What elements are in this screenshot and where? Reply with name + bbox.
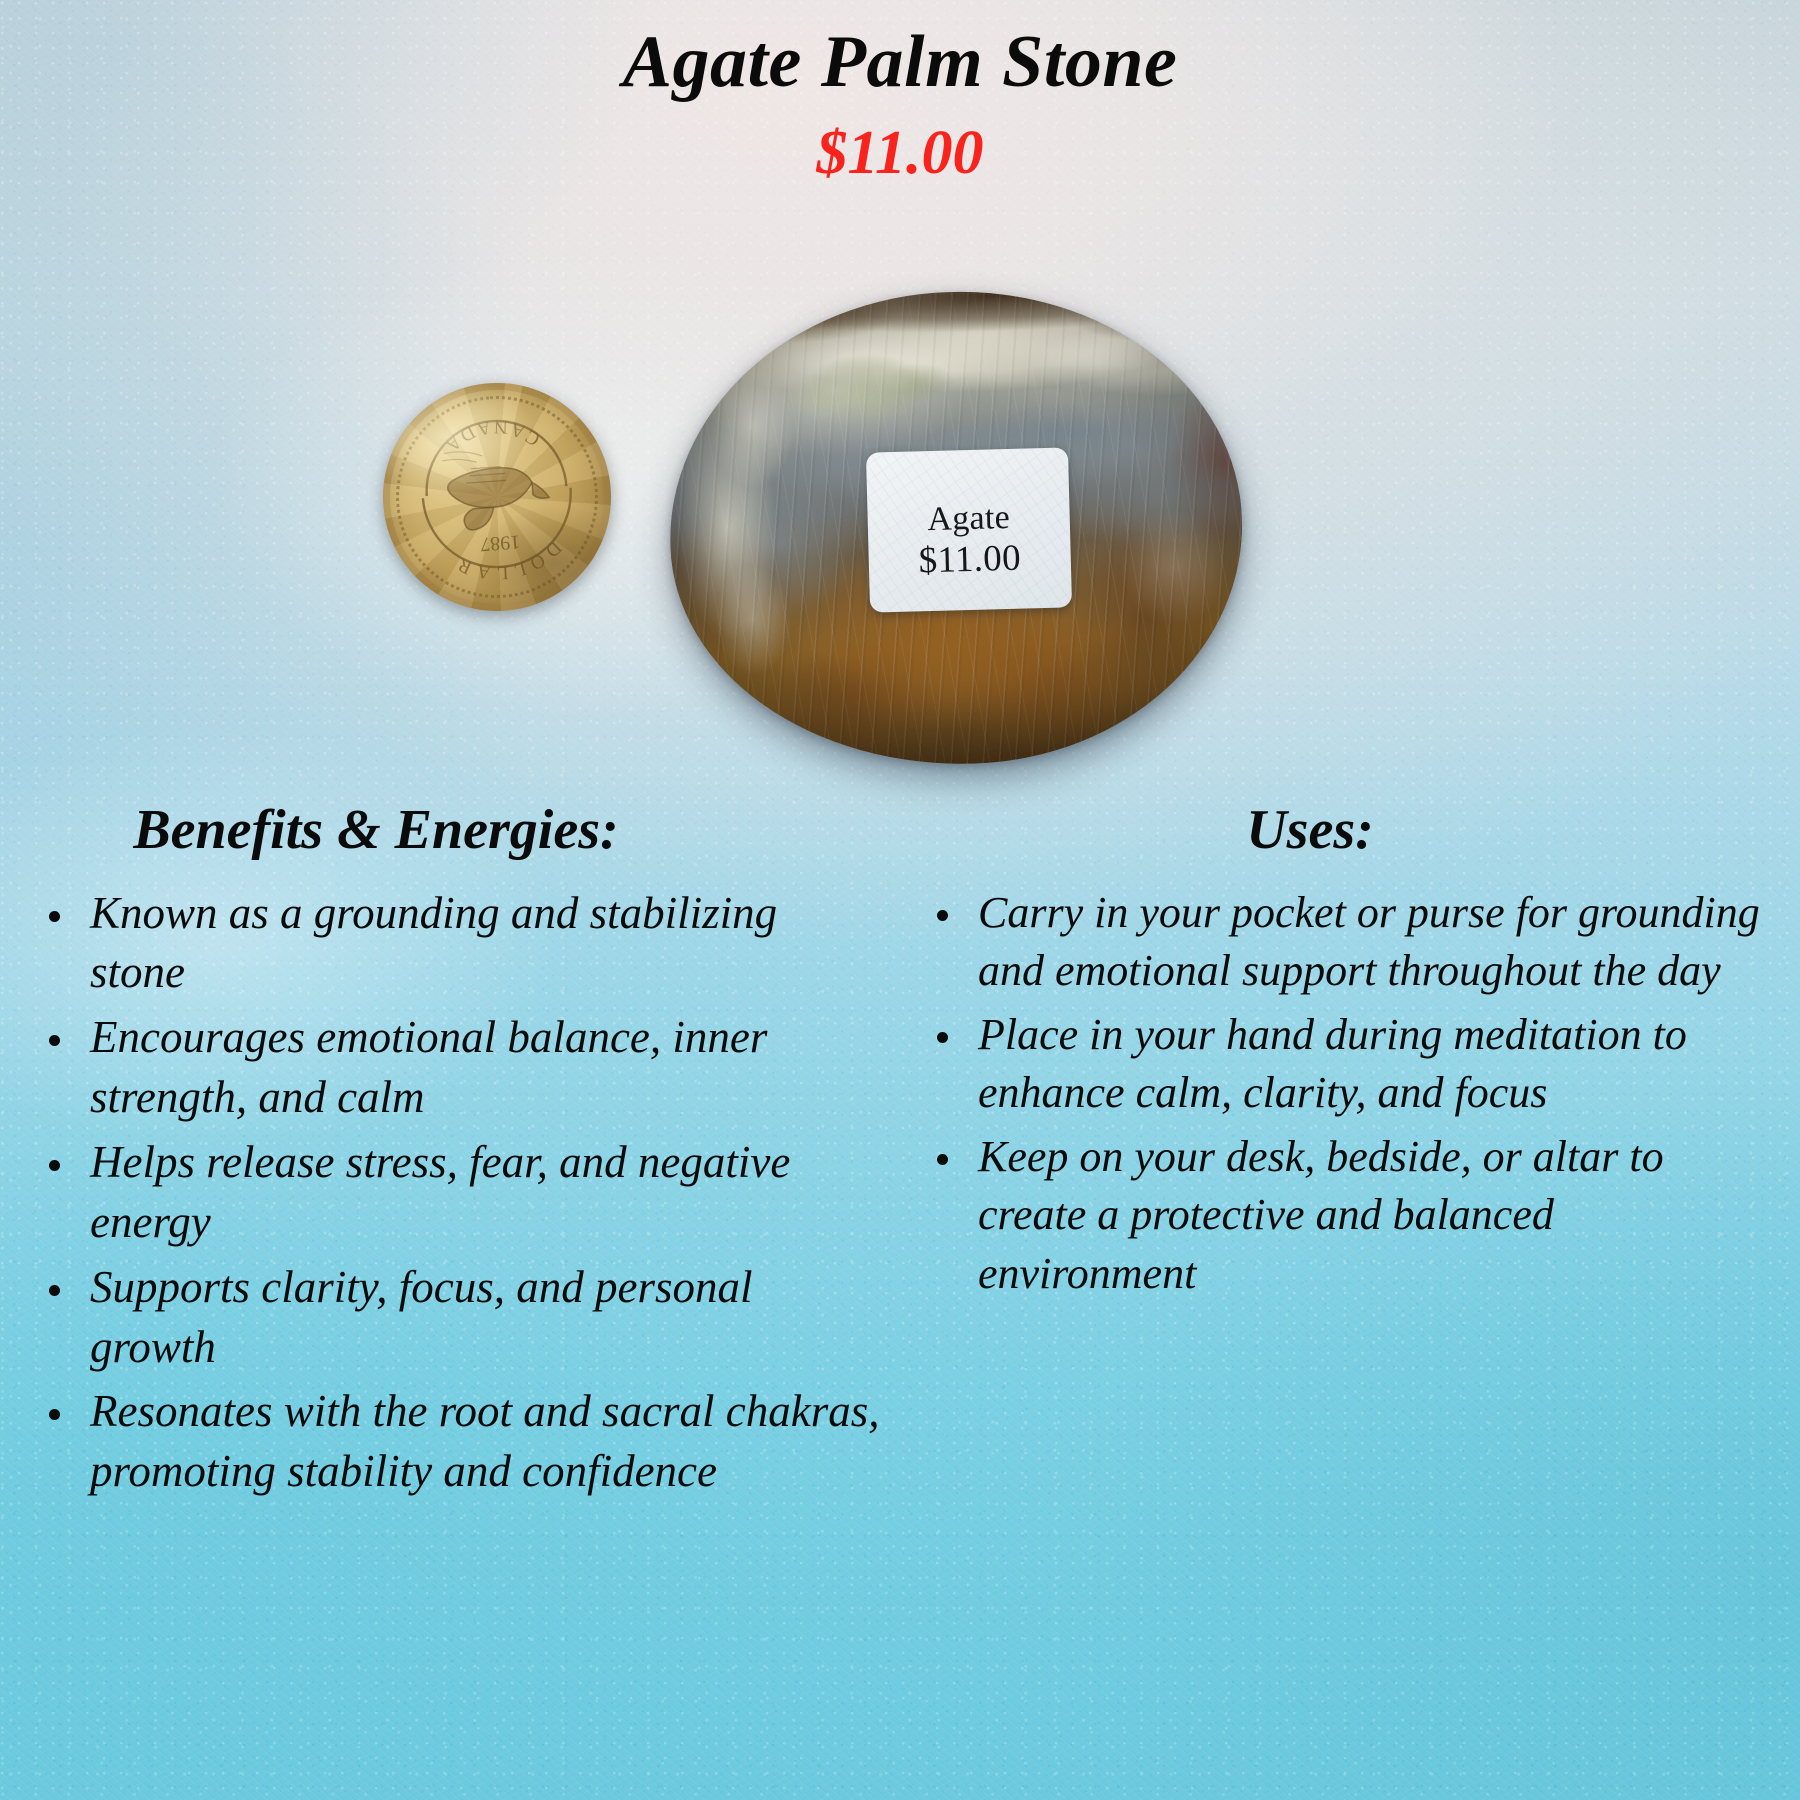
sticker-item-price: $11.00 (918, 537, 1021, 581)
sticker-item-name: Agate (927, 499, 1011, 539)
product-listing-image: Agate Palm Stone $11.00 DOLLAR CANADA 19… (0, 0, 1800, 1800)
uses-list: Carry in your pocket or purse for ground… (910, 884, 1770, 1304)
bullet-icon (937, 1032, 948, 1043)
bullet-icon (49, 911, 60, 922)
product-price: $11.00 (0, 119, 1800, 187)
list-item: Encourages emotional balance, inner stre… (22, 1008, 880, 1128)
bullet-icon (49, 1285, 60, 1296)
list-item-text: Carry in your pocket or purse for ground… (978, 888, 1760, 996)
page-title: Agate Palm Stone (0, 24, 1800, 101)
list-item-text: Encourages emotional balance, inner stre… (90, 1012, 767, 1122)
price-sticker: Agate $11.00 (866, 447, 1072, 612)
bullet-icon (49, 1160, 60, 1171)
bullet-icon (937, 1154, 948, 1165)
list-item: Supports clarity, focus, and personal gr… (22, 1258, 880, 1378)
list-item-text: Supports clarity, focus, and personal gr… (90, 1262, 753, 1372)
list-item: Known as a grounding and stabilizing sto… (22, 884, 880, 1004)
list-item: Resonates with the root and sacral chakr… (22, 1382, 880, 1502)
bullet-icon (937, 910, 948, 921)
benefits-column: Benefits & Energies: Known as a groundin… (0, 800, 880, 1507)
list-item-text: Helps release stress, fear, and negative… (90, 1137, 790, 1247)
bullet-icon (49, 1035, 60, 1046)
list-item: Place in your hand during meditation to … (910, 1006, 1770, 1123)
info-columns: Benefits & Energies: Known as a groundin… (0, 800, 1800, 1507)
uses-column: Uses: Carry in your pocket or purse for … (880, 800, 1800, 1308)
list-item-text: Place in your hand during meditation to … (978, 1010, 1687, 1118)
bullet-icon (49, 1409, 60, 1420)
benefits-list: Known as a grounding and stabilizing sto… (22, 884, 880, 1502)
list-item: Keep on your desk, bedside, or altar to … (910, 1128, 1770, 1304)
header: Agate Palm Stone $11.00 (0, 24, 1800, 187)
list-item-text: Known as a grounding and stabilizing sto… (90, 888, 777, 998)
list-item-text: Resonates with the root and sacral chakr… (90, 1386, 880, 1496)
list-item-text: Keep on your desk, bedside, or altar to … (978, 1132, 1664, 1298)
list-item: Carry in your pocket or purse for ground… (910, 884, 1770, 1001)
reference-coin: DOLLAR CANADA 1987 (375, 375, 618, 618)
list-item: Helps release stress, fear, and negative… (22, 1133, 880, 1253)
benefits-heading: Benefits & Energies: (22, 800, 880, 862)
uses-heading: Uses: (910, 800, 1770, 862)
